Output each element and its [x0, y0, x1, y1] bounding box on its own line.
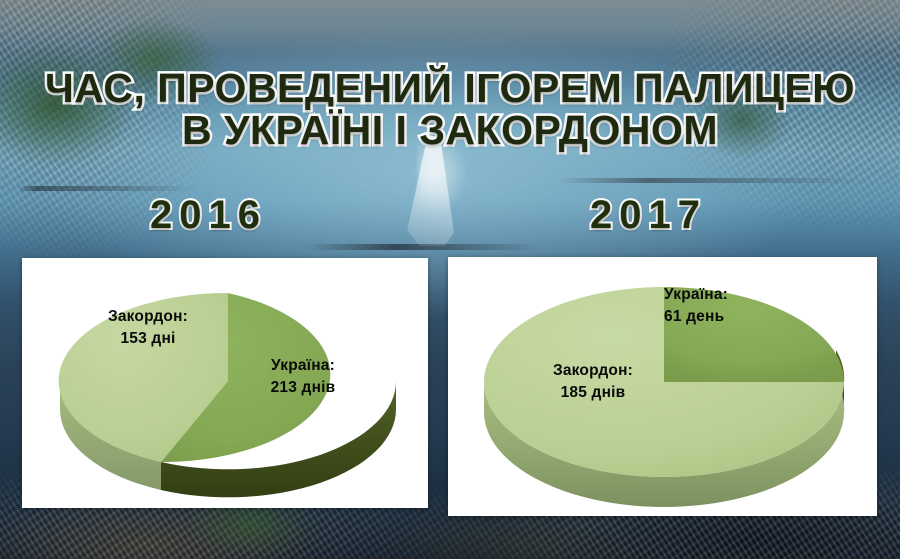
infographic-canvas: ЧАС, ПРОВЕДЕНИЙ ІГОРЕМ ПАЛИЦЕЮ В УКРАЇНІ…	[0, 0, 900, 559]
year-label-2016: 2016	[150, 193, 267, 238]
page-title-line-2: В УКРАЇНІ І ЗАКОРДОНОМ	[0, 109, 900, 152]
year-label-2017: 2017	[590, 193, 707, 238]
pie-2016-label-abroad: Закордон: 153 дні	[80, 306, 216, 351]
pie-2017-label-abroad: Закордон: 185 днів	[518, 360, 668, 405]
pie-2016-label-ukraine: Україна: 213 днів	[238, 355, 368, 400]
page-title-line-1: ЧАС, ПРОВЕДЕНИЙ ІГОРЕМ ПАЛИЦЕЮ	[45, 65, 855, 111]
page-title: ЧАС, ПРОВЕДЕНИЙ ІГОРЕМ ПАЛИЦЕЮ В УКРАЇНІ…	[0, 24, 900, 195]
pie-2017-label-ukraine: Україна: 61 день	[664, 284, 804, 329]
